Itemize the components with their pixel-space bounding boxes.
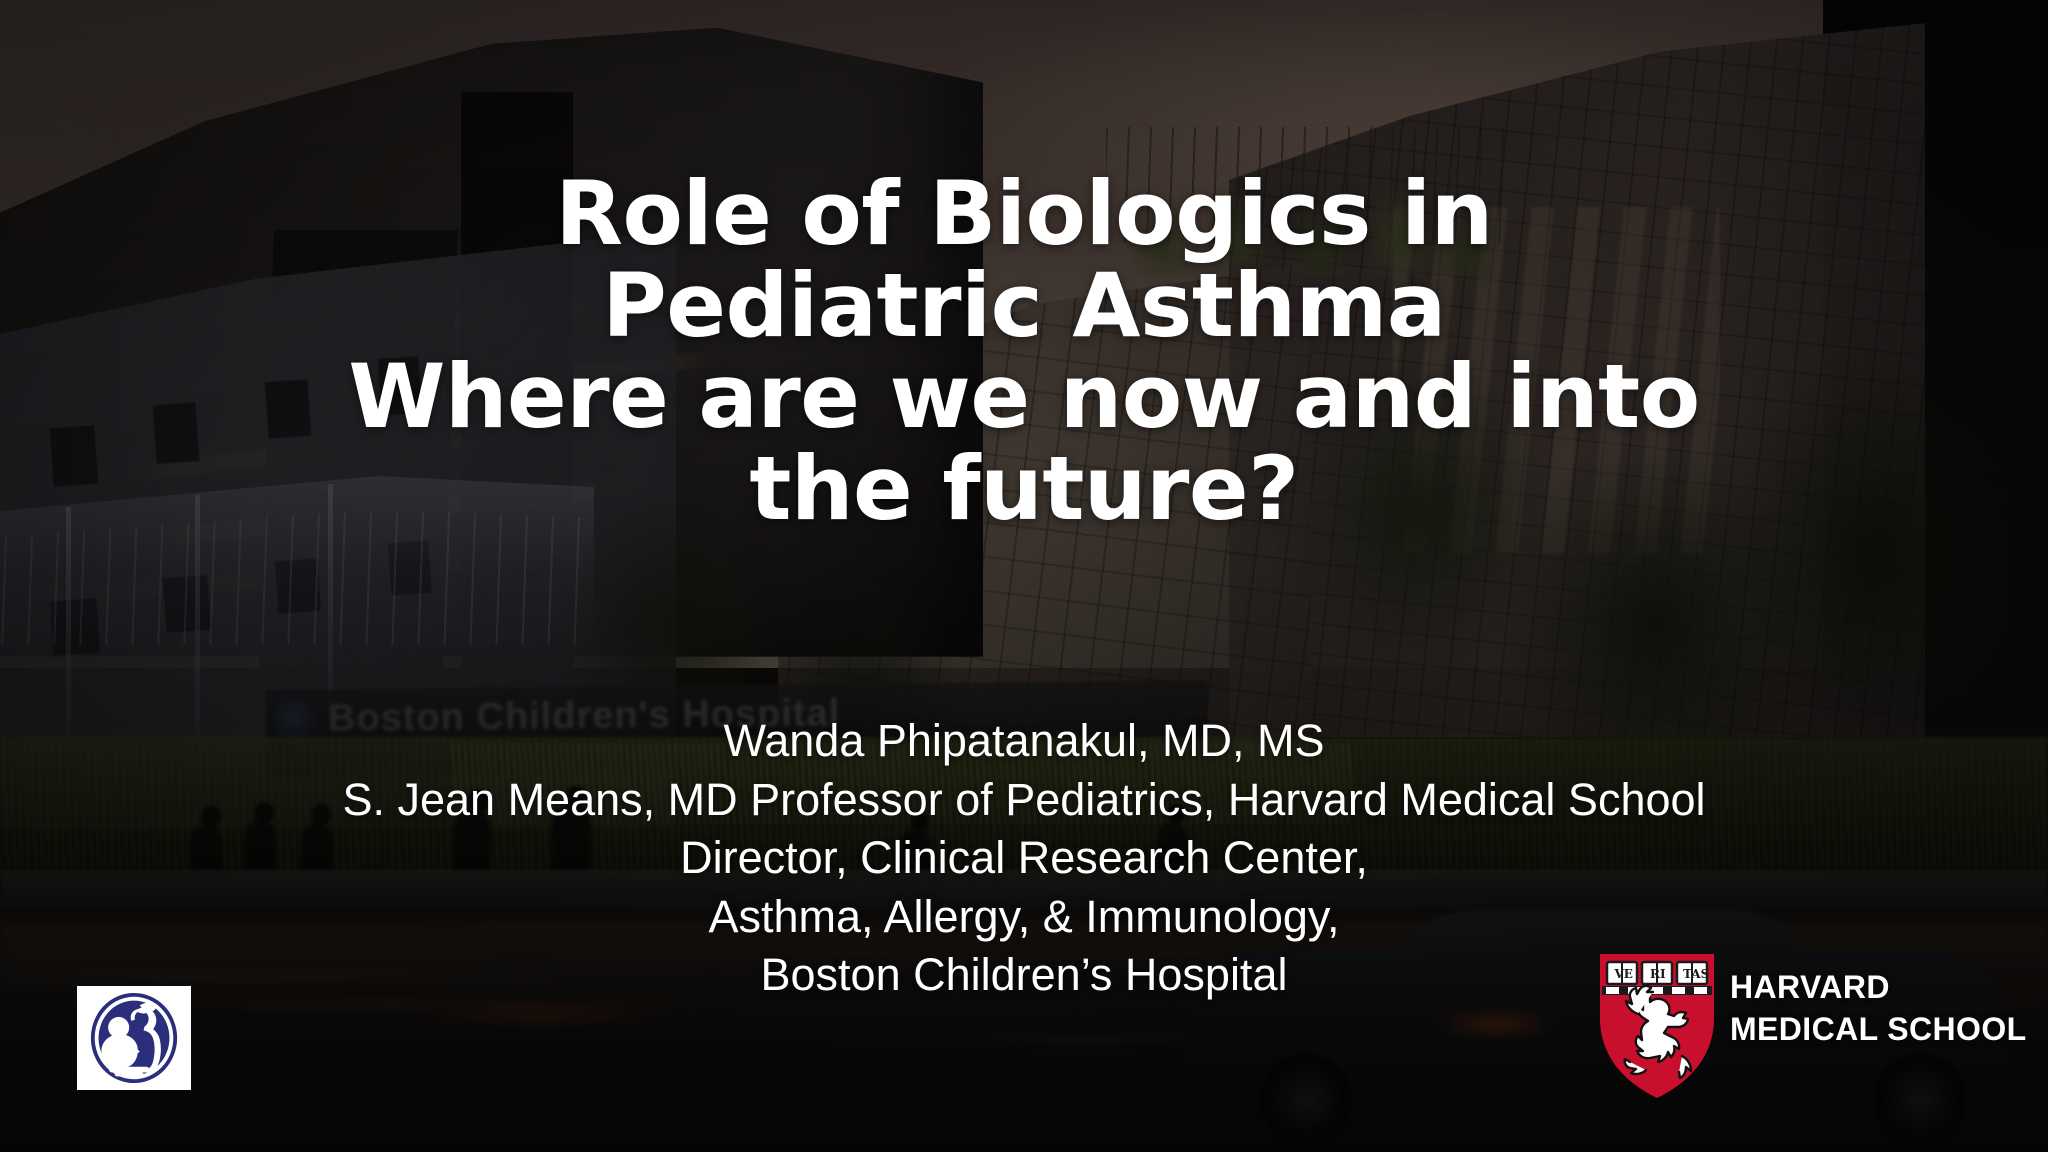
svg-text:RI: RI: [1650, 967, 1666, 981]
slide-title: Role of Biologics in Pediatric Asthma Wh…: [324, 168, 1724, 534]
boston-childrens-hospital-logo: [77, 986, 191, 1090]
svg-text:VE: VE: [1614, 967, 1633, 981]
presenter-title: S. Jean Means, MD Professor of Pediatric…: [174, 771, 1874, 830]
presenter-role: Director, Clinical Research Center,: [174, 829, 1874, 888]
medical-school-word: MEDICAL SCHOOL: [1730, 1009, 2027, 1051]
harvard-shield-icon: VE RI TAS: [1598, 952, 1716, 1100]
slide-content: Role of Biologics in Pediatric Asthma Wh…: [0, 0, 2048, 1152]
harvard-medical-school-wordmark: HARVARD MEDICAL SCHOOL: [1730, 967, 2027, 1084]
presenter-division: Asthma, Allergy, & Immunology,: [174, 888, 1874, 947]
harvard-medical-school-logo: VE RI TAS HARVA: [1598, 952, 2027, 1100]
title-line-4: the future?: [324, 443, 1724, 535]
harvard-word: HARVARD: [1730, 967, 2027, 1009]
title-line-2: Pediatric Asthma: [324, 260, 1724, 352]
svg-text:TAS: TAS: [1683, 967, 1709, 981]
title-line-3: Where are we now and into: [324, 351, 1724, 443]
title-slide: Boston Children's Hospital R: [0, 0, 2048, 1152]
title-line-1: Role of Biologics in: [324, 168, 1724, 260]
presenter-name: Wanda Phipatanakul, MD, MS: [174, 712, 1874, 771]
